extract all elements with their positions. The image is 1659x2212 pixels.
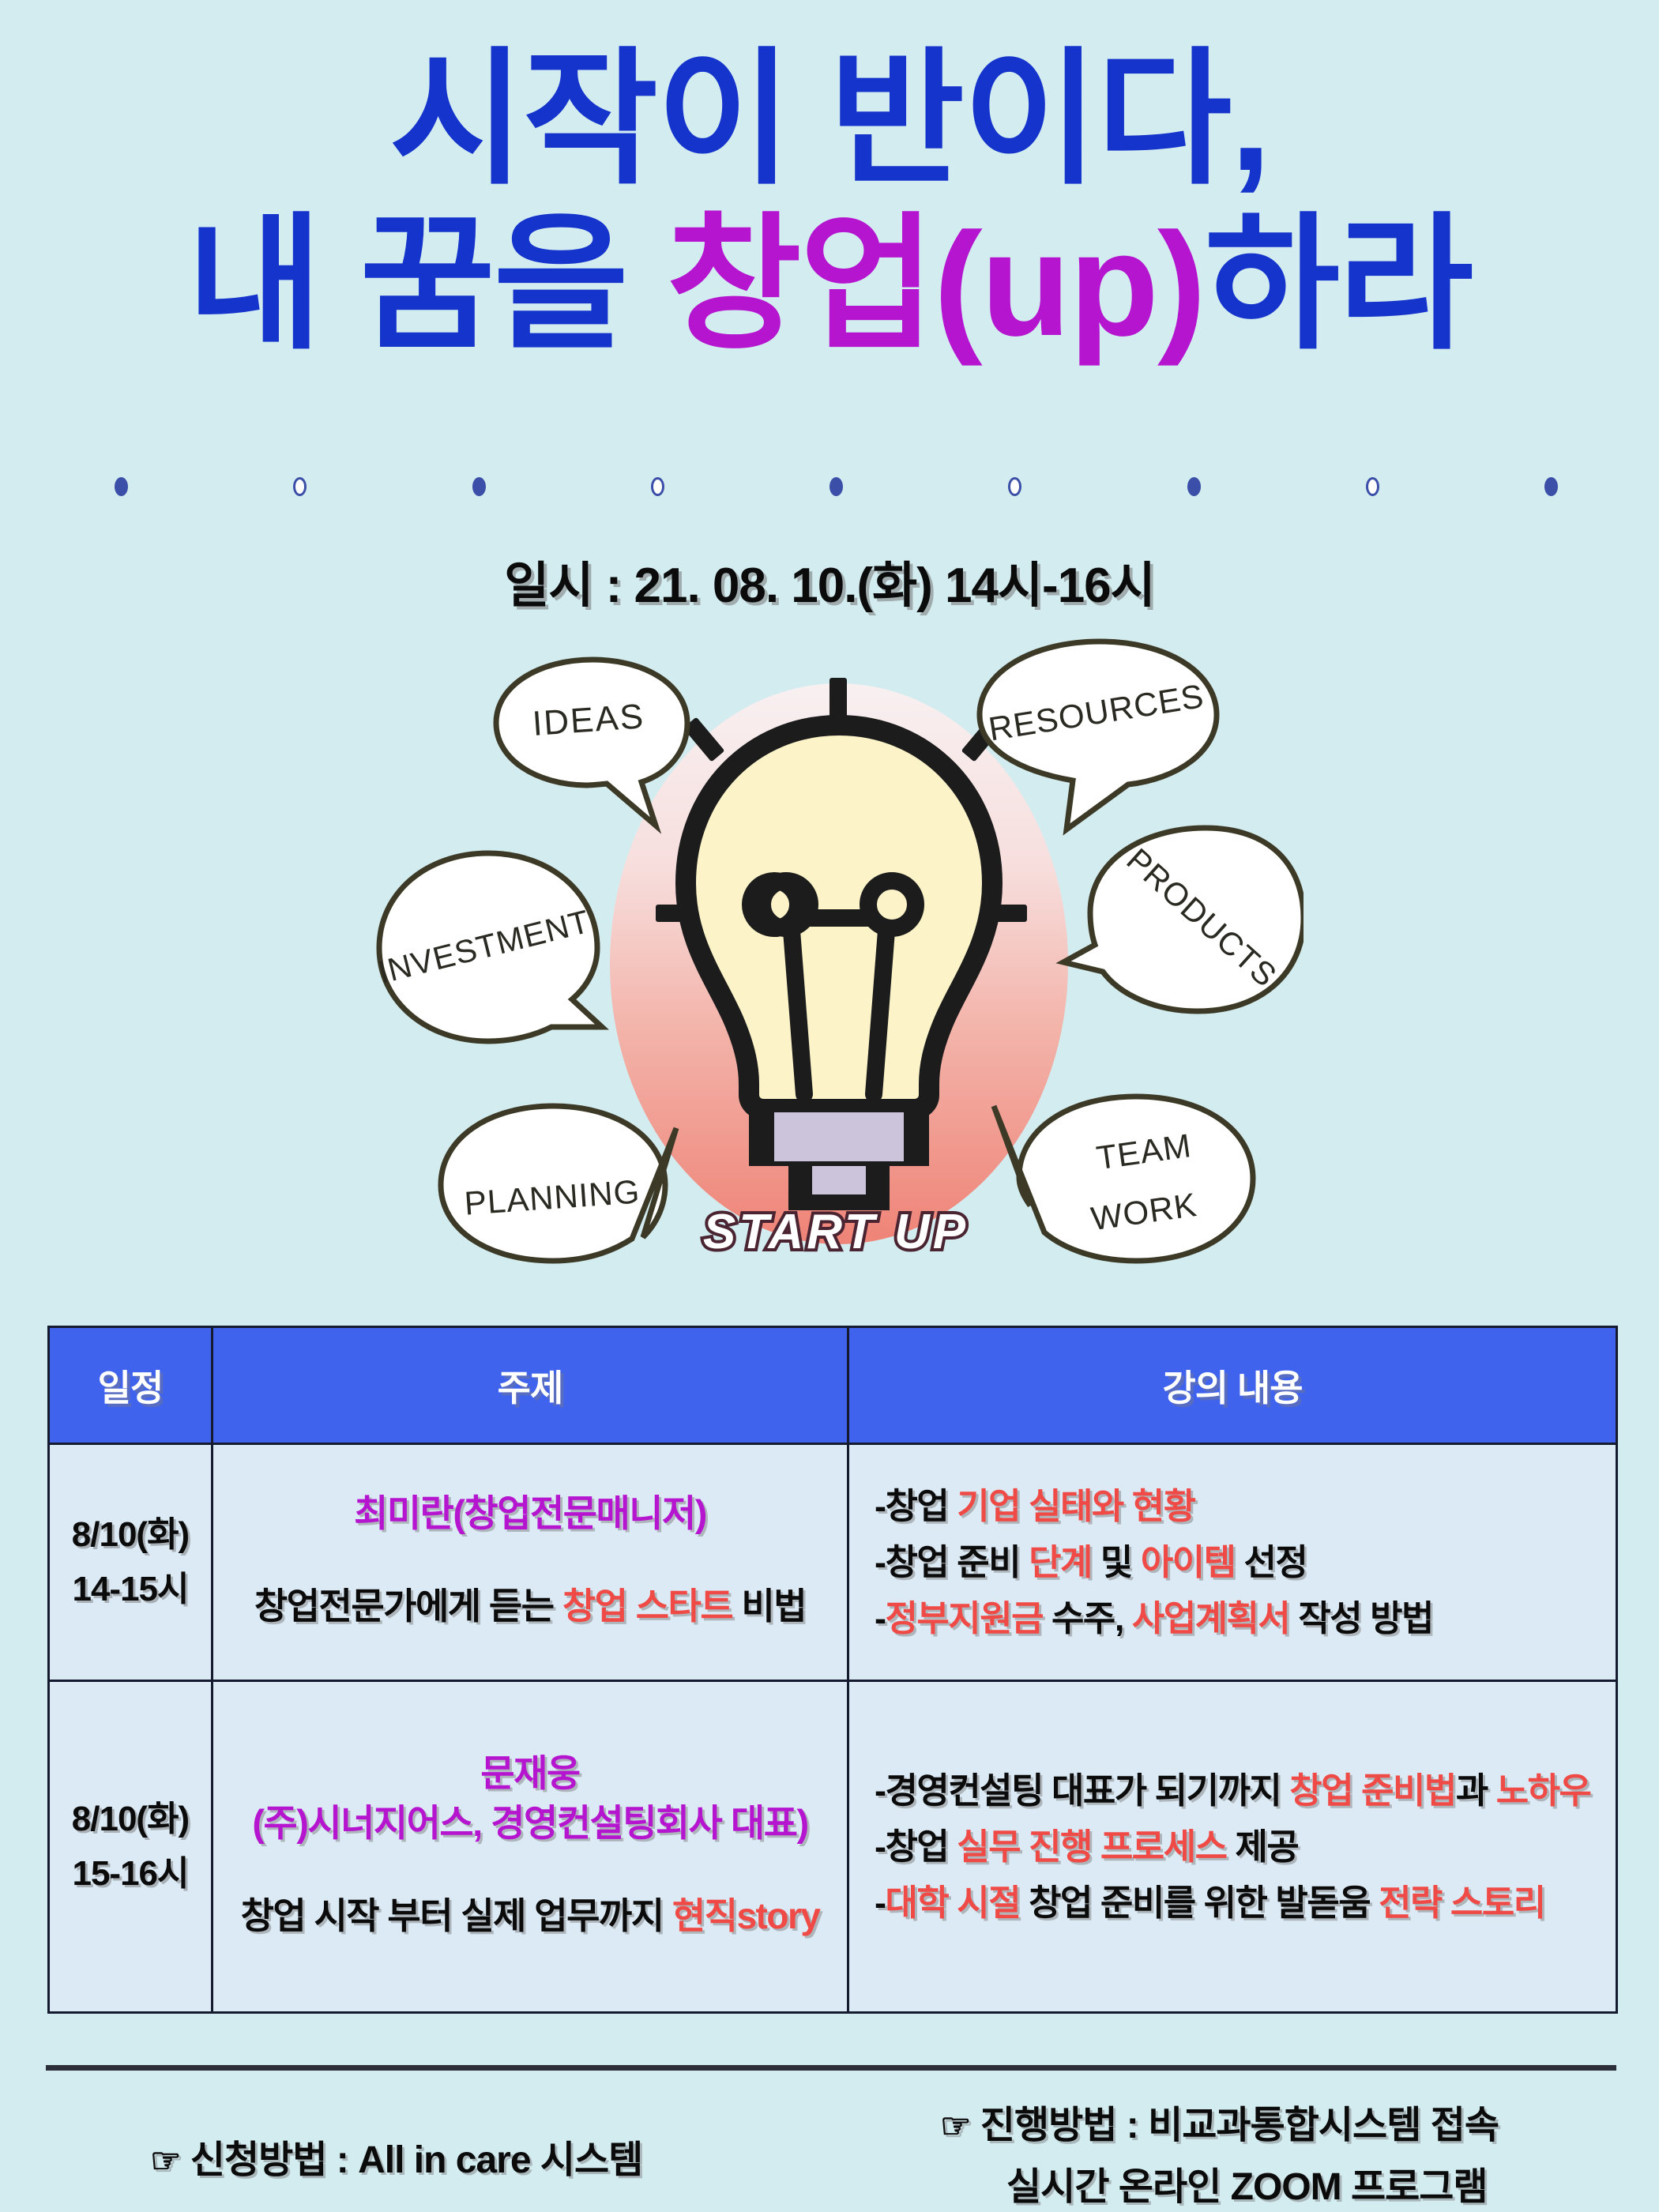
schedule-time: 15-16시 (50, 1847, 211, 1901)
decorative-dot-row (0, 471, 1659, 502)
highlight-text: 전략 스토리 (1379, 1883, 1545, 1923)
topic-subtitle: 창업 시작 부터 실제 업무까지 현직story (228, 1893, 833, 1940)
plain-text: 작성 방법 (1289, 1598, 1433, 1638)
content-bullet: -창업 기업 실태와 현황 (875, 1478, 1595, 1534)
speaker-name: 최미란(창업전문매니저) (228, 1489, 833, 1539)
poster-footer: ☞ 신청방법 : All in care 시스템 ☞ 진행방법 : 비교과통합시… (0, 2117, 1659, 2212)
plain-text: 과 (1456, 1770, 1496, 1811)
plain-text: -창업 (875, 1486, 957, 1526)
content-bullet: -창업 실무 진행 프로세스 제공 (875, 1819, 1595, 1875)
plain-text: 및 (1092, 1542, 1141, 1582)
cell-content: -창업 기업 실태와 현황-창업 준비 단계 및 아이템 선정-정부지원금 수주… (848, 1444, 1617, 1681)
highlight-text: 사업계획서 (1132, 1598, 1290, 1638)
speaker-name: 문재웅(주)시너지어스, 경영컨설팅회사 대표) (228, 1749, 833, 1849)
highlight-text: 노하우 (1496, 1770, 1591, 1811)
plain-text: - (875, 1598, 886, 1638)
plain-text: -창업 준비 (875, 1542, 1029, 1582)
plain-text: 제공 (1227, 1826, 1299, 1867)
highlight-text: 단계 (1029, 1542, 1092, 1582)
decorative-dot-2 (293, 477, 307, 496)
schedule-time: 14-15시 (50, 1563, 211, 1616)
cell-content: -경영컨설팅 대표가 되기까지 창업 준비법과 노하우-창업 실무 진행 프로세… (848, 1681, 1617, 2013)
decorative-dot-1 (115, 477, 128, 496)
content-bullet: -정부지원금 수주, 사업계획서 작성 방법 (875, 1590, 1595, 1646)
highlight-text: 대학 시절 (886, 1883, 1021, 1923)
decorative-dot-9 (1544, 477, 1558, 496)
plain-text: 수주, (1043, 1598, 1132, 1638)
bulb-base-plate (774, 1112, 904, 1161)
svg-text:IDEAS: IDEAS (531, 697, 645, 743)
table-header-row: 일정 주제 강의 내용 (49, 1327, 1617, 1444)
poster-canvas: 시작이 반이다, 내 꿈을 창업(up)하라 일시 : 21. 08. 10.(… (0, 0, 1659, 2212)
highlight-text: 현직story (672, 1895, 820, 1936)
plain-text: 창업 시작 부터 실제 업무까지 (241, 1895, 672, 1936)
apply-method-note: ☞ 신청방법 : All in care 시스템 (150, 2128, 642, 2184)
content-bullet: -창업 준비 단계 및 아이템 선정 (875, 1534, 1595, 1590)
footer-divider (46, 2065, 1616, 2071)
title-line-2-post: 하라 (1205, 203, 1472, 367)
cell-topic: 문재웅(주)시너지어스, 경영컨설팅회사 대표)창업 시작 부터 실제 업무까지… (213, 1681, 848, 2013)
start-up-label: START UP (703, 1205, 969, 1259)
content-bullet: -경영컨설팅 대표가 되기까지 창업 준비법과 노하우 (875, 1762, 1595, 1819)
schedule-table: 일정 주제 강의 내용 8/10(화)14-15시최미란(창업전문매니저)창업전… (47, 1326, 1618, 2014)
startup-illustration: START UP IDEAS RESOURCES INVESTMENT PROD… (355, 632, 1303, 1272)
plain-text: -창업 (875, 1826, 957, 1867)
plain-text: 선정 (1236, 1542, 1307, 1582)
topic-subtitle: 창업전문가에게 듣는 창업 스타트 비법 (228, 1583, 833, 1631)
poster-title: 시작이 반이다, 내 꿈을 창업(up)하라 (0, 41, 1659, 365)
cell-topic: 최미란(창업전문매니저)창업전문가에게 듣는 창업 스타트 비법 (213, 1444, 848, 1681)
bubble-planning: PLANNING (441, 1106, 676, 1261)
pointing-hand-icon-2: ☞ (940, 2107, 970, 2146)
plain-text: 창업 준비를 위한 발돋움 (1020, 1883, 1379, 1923)
plain-text: 비법 (732, 1586, 806, 1627)
apply-method-text: 신청방법 : All in care 시스템 (190, 2139, 643, 2181)
bulb-base-tip (812, 1166, 866, 1194)
speaker-name-line1: 문재웅 (228, 1749, 833, 1799)
schedule-date: 8/10(화) (50, 1793, 211, 1846)
bubble-products: PRODUCTS (1063, 828, 1303, 1011)
decorative-dot-3 (472, 477, 486, 496)
decorative-dot-5 (829, 477, 843, 496)
title-line-1: 시작이 반이다, (0, 41, 1659, 200)
plain-text: -경영컨설팅 대표가 되기까지 (875, 1770, 1289, 1811)
bubble-investment: INVESTMENT (374, 853, 602, 1041)
header-content: 강의 내용 (848, 1327, 1617, 1444)
highlight-text: 아이템 (1141, 1542, 1236, 1582)
delivery-method-line2: 실시간 온라인 ZOOM 프로그램 (940, 2157, 1499, 2212)
header-schedule: 일정 (49, 1327, 213, 1444)
speaker-name-line2: (주)시너지어스, 경영컨설팅회사 대표) (228, 1799, 833, 1849)
table-row: 8/10(화)14-15시최미란(창업전문매니저)창업전문가에게 듣는 창업 스… (49, 1444, 1617, 1681)
highlight-text: 정부지원금 (886, 1598, 1044, 1638)
plain-text: - (875, 1883, 886, 1923)
cell-schedule: 8/10(화)14-15시 (49, 1444, 213, 1681)
schedule-date: 8/10(화) (50, 1508, 211, 1562)
highlight-text: 창업 스타트 (562, 1586, 732, 1627)
title-line-2-accent: 창업(up) (667, 203, 1205, 367)
title-line-2: 내 꿈을 창업(up)하라 (0, 206, 1659, 365)
highlight-text: 창업 준비법 (1289, 1770, 1456, 1811)
decorative-dot-8 (1366, 477, 1379, 496)
pointing-hand-icon: ☞ (150, 2142, 180, 2180)
delivery-method-note: ☞ 진행방법 : 비교과통합시스템 접속 실시간 온라인 ZOOM 프로그램 (940, 2095, 1499, 2212)
bubble-teamwork: TEAM WORK (994, 1097, 1253, 1261)
plain-text: 창업전문가에게 듣는 (254, 1586, 562, 1627)
cell-schedule: 8/10(화)15-16시 (49, 1681, 213, 2013)
event-date-line: 일시 : 21. 08. 10.(화) 14시-16시 (0, 545, 1659, 616)
content-bullet: -대학 시절 창업 준비를 위한 발돋움 전략 스토리 (875, 1875, 1595, 1931)
title-line-2-pre: 내 꿈을 (187, 203, 667, 367)
table-row: 8/10(화)15-16시문재웅(주)시너지어스, 경영컨설팅회사 대표)창업 … (49, 1681, 1617, 2013)
decorative-dot-4 (651, 477, 664, 496)
highlight-text: 실무 진행 프로세스 (957, 1826, 1226, 1867)
highlight-text: 기업 실태와 현황 (957, 1486, 1194, 1526)
decorative-dot-6 (1008, 477, 1021, 496)
delivery-method-line1: 진행방법 : 비교과통합시스템 접속 (980, 2105, 1499, 2146)
decorative-dot-7 (1187, 477, 1201, 496)
header-topic: 주제 (213, 1327, 848, 1444)
